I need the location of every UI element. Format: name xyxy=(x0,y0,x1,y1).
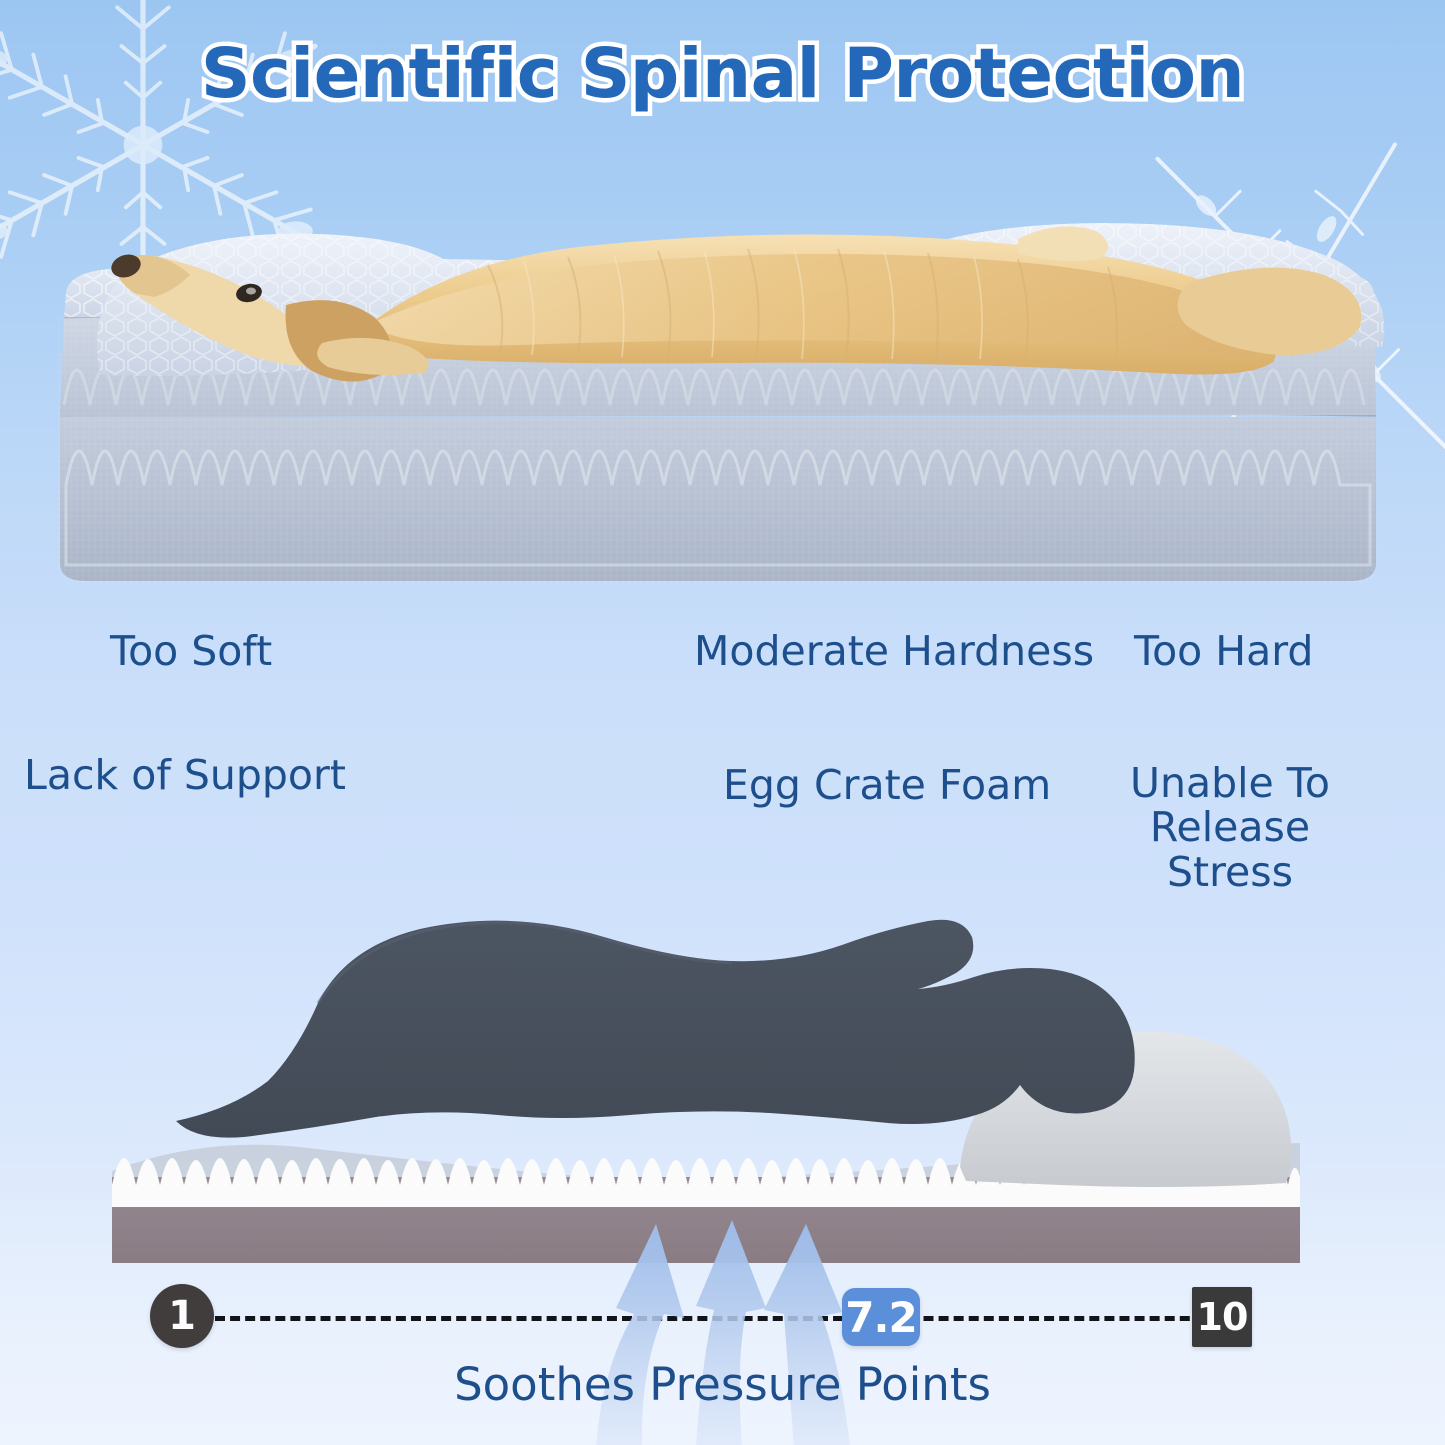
scale-bottom-label-lack-of-support: Lack of Support xyxy=(24,751,346,799)
scale-top-label-too-soft: Too Soft xyxy=(110,627,272,675)
scale-top-label-too-hard: Too Hard xyxy=(1134,627,1313,675)
hero-product-photo xyxy=(38,165,1398,600)
scale-bottom-label-unable-to-release-stress: Unable To Release Stress xyxy=(1085,761,1375,894)
hardness-scale: Too Soft 1 Lack of Support Moderate Hard… xyxy=(0,615,1445,875)
scale-bottom-label-egg-crate-foam: Egg Crate Foam xyxy=(723,761,1051,809)
page-title-container: Scientific Spinal Protection xyxy=(0,34,1445,114)
infographic-canvas: Scientific Spinal Protection xyxy=(0,0,1445,1445)
unable-to-line2: Release Stress xyxy=(1150,803,1310,895)
arrow-right xyxy=(764,1224,850,1445)
scale-top-label-moderate-hardness: Moderate Hardness xyxy=(694,627,1094,675)
arrow-left xyxy=(596,1224,684,1445)
arrow-center xyxy=(696,1220,766,1445)
page-title: Scientific Spinal Protection xyxy=(201,34,1244,114)
footer-caption: Soothes Pressure Points xyxy=(0,1358,1445,1411)
unable-to-line1: Unable To xyxy=(1130,759,1330,807)
